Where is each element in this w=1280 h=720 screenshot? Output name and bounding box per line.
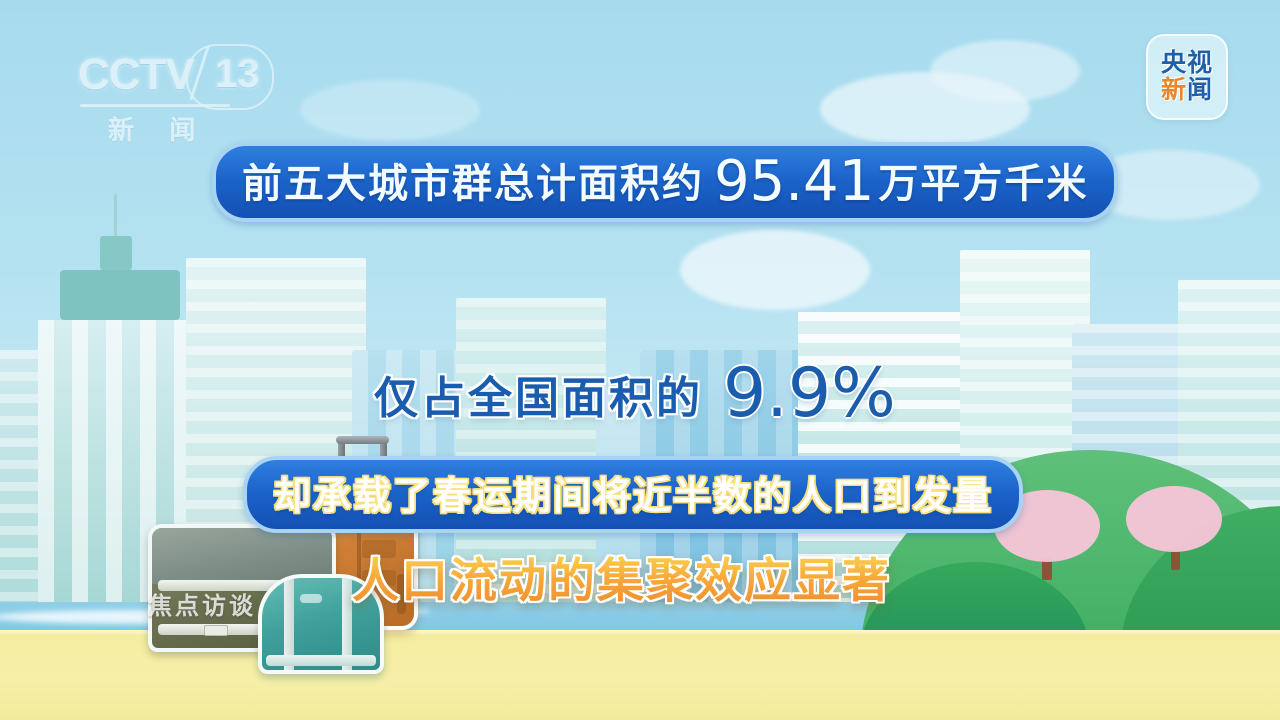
headline-line-3: 却承载了春运期间将近半数的人口到发量 <box>243 456 1023 533</box>
cherry-blossom-tree <box>1126 486 1222 552</box>
headline-banner-1: 前五大城市群总计面积约 95.41 万平方千米 <box>212 142 1118 222</box>
cctv-logo-number: 13 <box>215 52 260 97</box>
antenna <box>114 194 117 236</box>
headline-1-suffix: 万平方千米 <box>878 151 1088 209</box>
building-roof-block <box>60 270 180 320</box>
news-logo-line1: 央视 <box>1161 51 1213 77</box>
headline-banner-3: 却承载了春运期间将近半数的人口到发量 <box>243 456 1023 533</box>
headline-line-1: 前五大城市群总计面积约 95.41 万平方千米 <box>212 142 1118 222</box>
news-logo-line2-blue: 闻 <box>1187 76 1213 104</box>
tree-trunk <box>1171 550 1180 570</box>
cctv-logo-letters: CCTV <box>78 50 194 100</box>
broadcast-frame: CCTV 13 新 闻 央视 新闻 <box>0 0 1280 720</box>
headline-2-prefix: 仅占全国面积的 <box>374 362 703 426</box>
headline-1-number: 95.41 <box>714 154 874 210</box>
headline-line-2: 仅占全国面积的 9.9% <box>374 360 896 428</box>
headline-1-prefix: 前五大城市群总计面积约 <box>242 151 704 209</box>
headline-4-text: 人口流动的集聚效应显著 <box>352 554 891 607</box>
cctv-logo-underline <box>80 104 230 107</box>
cloud <box>930 40 1080 102</box>
cctv-news-app-logo: 央视 新闻 <box>1146 34 1228 120</box>
cctv-logo-subtitle: 新 闻 <box>108 110 209 147</box>
headline-3-text: 却承载了春运期间将近半数的人口到发量 <box>273 465 993 520</box>
building-tower-top <box>100 236 132 270</box>
program-watermark: 焦点访谈 <box>148 586 256 621</box>
headline-2-number: 9.9% <box>723 360 896 428</box>
news-logo-line2-orange: 新 <box>1161 76 1187 104</box>
headline-line-4: 人口流动的集聚效应显著 <box>352 542 891 611</box>
cctv-13-channel-logo: CCTV 13 新 闻 <box>78 48 274 140</box>
